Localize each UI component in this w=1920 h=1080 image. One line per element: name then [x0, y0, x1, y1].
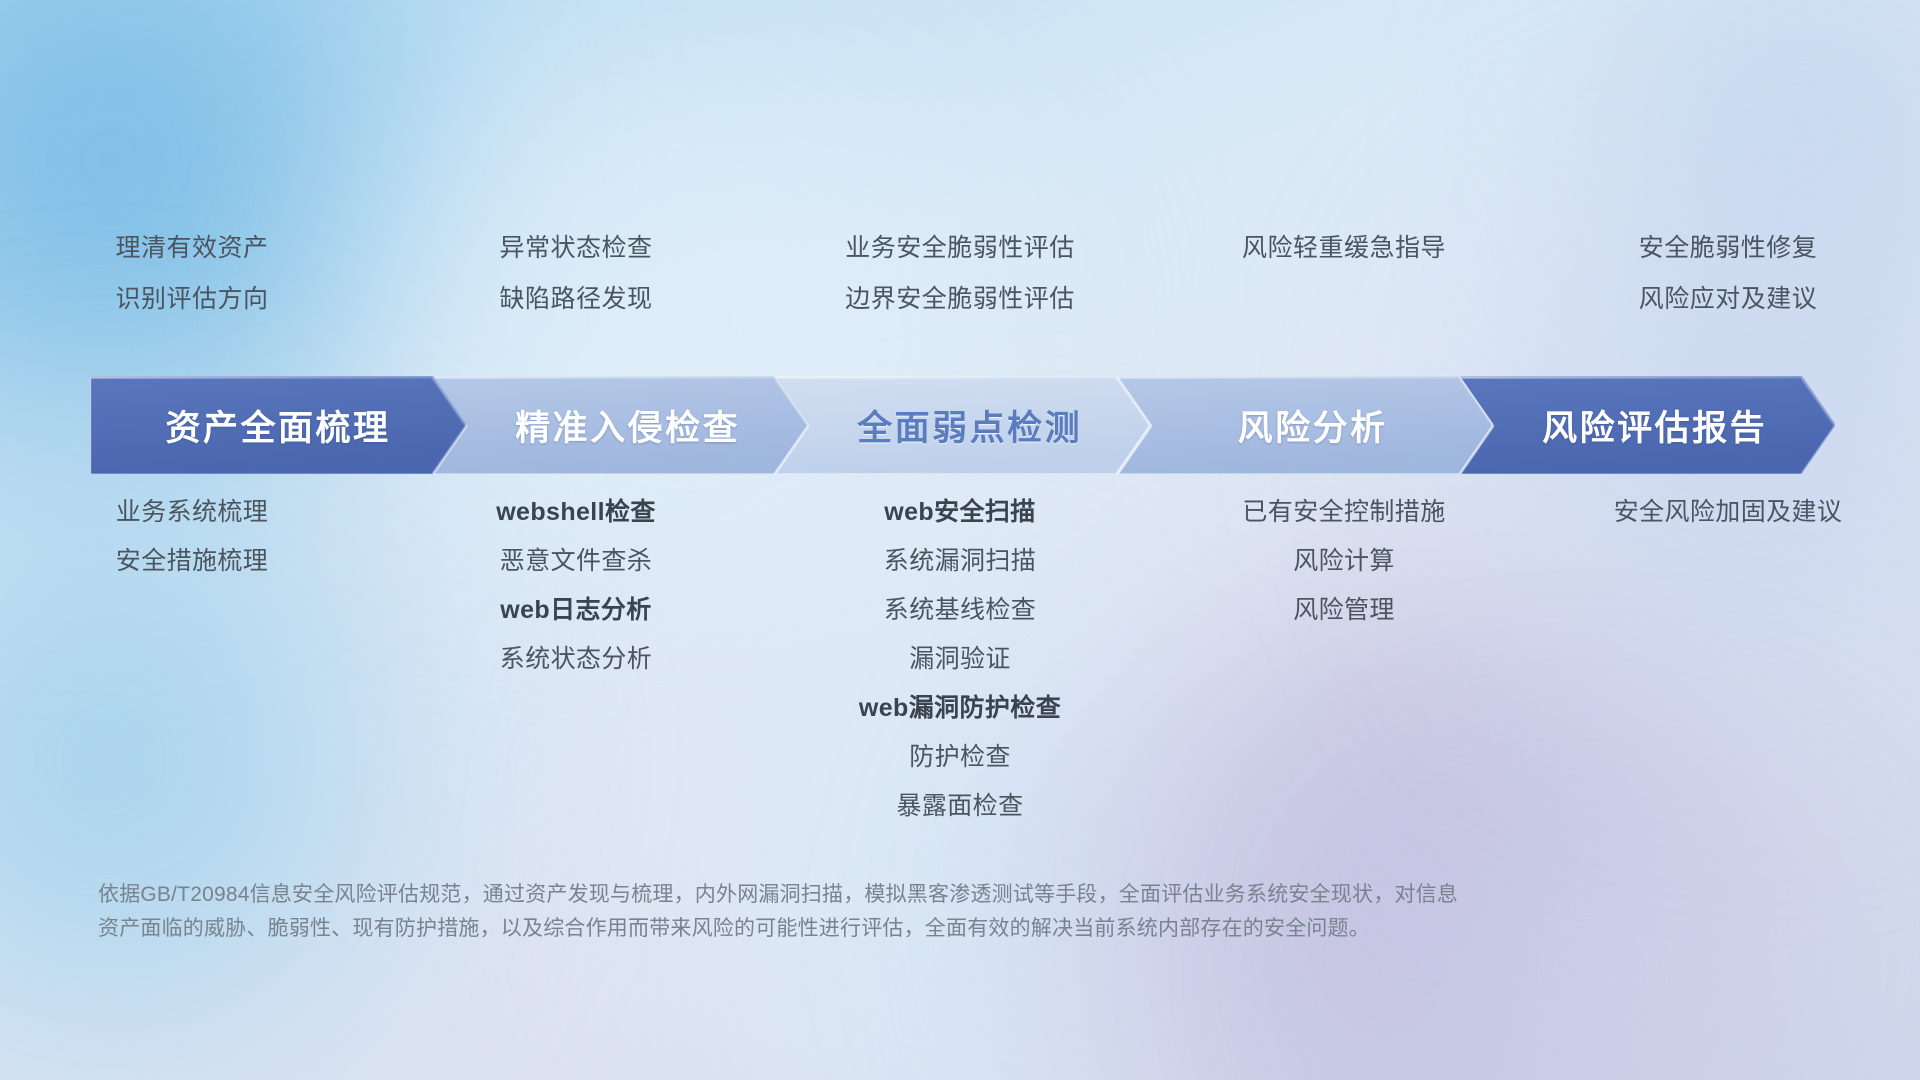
process-diagram: 理清有效资产识别评估方向异常状态检查缺陷路径发现业务安全脆弱性评估边界安全脆弱性…: [0, 0, 1920, 1080]
stage-chevron-risk-report[interactable]: 风险评估报告: [1459, 376, 1835, 474]
bottom-item-group-risk-analysis: 已有安全控制措施风险计算风险管理: [1152, 500, 1536, 647]
top-caption-group-intrusion-check: 异常状态检查缺陷路径发现: [384, 236, 768, 338]
top-caption-group-risk-analysis: 风险轻重缓急指导: [1152, 236, 1536, 287]
stage-label: 全面弱点检测: [857, 400, 1082, 451]
top-caption-group-risk-report: 安全脆弱性修复风险应对及建议: [1536, 236, 1920, 338]
top-caption-item: 识别评估方向: [0, 287, 384, 312]
top-caption-group-weakness-detection: 业务安全脆弱性评估边界安全脆弱性评估: [768, 236, 1152, 338]
list-item: 暴露面检查: [768, 794, 1152, 819]
list-item: 恶意文件查杀: [384, 549, 768, 574]
list-item: web日志分析: [384, 598, 768, 623]
top-caption-item: 异常状态检查: [384, 236, 768, 261]
footer-line-1: 依据GB/T20984信息安全风险评估规范，通过资产发现与梳理，内外网漏洞扫描，…: [98, 878, 1618, 912]
stage-label: 风险评估报告: [1542, 400, 1767, 451]
bottom-item-group-risk-report: 安全风险加固及建议: [1536, 500, 1920, 549]
top-caption-item: 业务安全脆弱性评估: [768, 236, 1152, 261]
top-caption-item: 理清有效资产: [0, 236, 384, 261]
bottom-item-group-asset-inventory: 业务系统梳理安全措施梳理: [0, 500, 384, 598]
list-item: web安全扫描: [768, 500, 1152, 525]
stage-chevron-intrusion-check[interactable]: 精准入侵检查: [432, 376, 808, 474]
bottom-item-group-intrusion-check: webshell检查恶意文件查杀web日志分析系统状态分析: [384, 500, 768, 696]
list-item: webshell检查: [384, 500, 768, 525]
list-item: 风险管理: [1152, 598, 1536, 623]
stage-label: 资产全面梳理: [165, 400, 390, 451]
stage-label: 风险分析: [1238, 400, 1388, 451]
list-item: 安全风险加固及建议: [1536, 500, 1920, 525]
stage-chevron-risk-analysis[interactable]: 风险分析: [1117, 376, 1493, 474]
list-item: 已有安全控制措施: [1152, 500, 1536, 525]
top-caption-item: 风险应对及建议: [1536, 287, 1920, 312]
bottom-item-group-weakness-detection: web安全扫描系统漏洞扫描系统基线检查漏洞验证web漏洞防护检查防护检查暴露面检…: [768, 500, 1152, 843]
list-item: 系统状态分析: [384, 647, 768, 672]
footer-description: 依据GB/T20984信息安全风险评估规范，通过资产发现与梳理，内外网漏洞扫描，…: [98, 878, 1618, 946]
list-item: web漏洞防护检查: [768, 696, 1152, 721]
list-item: 安全措施梳理: [0, 549, 384, 574]
list-item: 系统基线检查: [768, 598, 1152, 623]
top-caption-item: 边界安全脆弱性评估: [768, 287, 1152, 312]
top-caption-row: 理清有效资产识别评估方向异常状态检查缺陷路径发现业务安全脆弱性评估边界安全脆弱性…: [0, 236, 1920, 338]
stage-chevron-band: 资产全面梳理精准入侵检查全面弱点检测风险分析风险评估报告: [90, 376, 1835, 474]
bottom-item-row: 业务系统梳理安全措施梳理webshell检查恶意文件查杀web日志分析系统状态分…: [0, 500, 1920, 843]
top-caption-item: 风险轻重缓急指导: [1152, 236, 1536, 261]
list-item: 风险计算: [1152, 549, 1536, 574]
top-caption-item: 安全脆弱性修复: [1536, 236, 1920, 261]
list-item: 防护检查: [768, 745, 1152, 770]
list-item: 业务系统梳理: [0, 500, 384, 525]
stage-label: 精准入侵检查: [515, 400, 740, 451]
list-item: 系统漏洞扫描: [768, 549, 1152, 574]
top-caption-item: 缺陷路径发现: [384, 287, 768, 312]
top-caption-group-asset-inventory: 理清有效资产识别评估方向: [0, 236, 384, 338]
stage-chevron-asset-inventory[interactable]: 资产全面梳理: [90, 376, 466, 474]
list-item: 漏洞验证: [768, 647, 1152, 672]
footer-line-2: 资产面临的威胁、脆弱性、现有防护措施，以及综合作用而带来风险的可能性进行评估，全…: [98, 912, 1618, 946]
stage-chevron-weakness-detection[interactable]: 全面弱点检测: [774, 376, 1150, 474]
